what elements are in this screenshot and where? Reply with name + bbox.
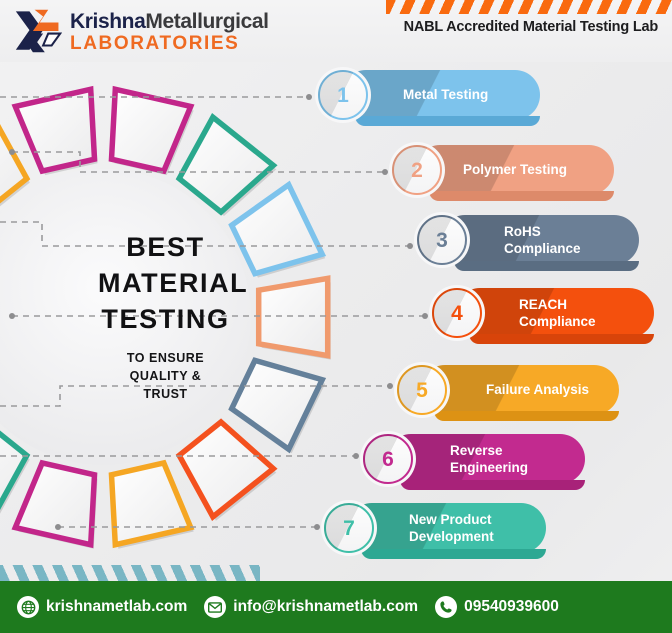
phone-icon	[435, 596, 457, 618]
contact-footer: krishnametlab.cominfo@krishnametlab.com0…	[0, 581, 672, 633]
service-label-line2: Compliance	[504, 240, 581, 257]
logo-name-krishna: Krishna	[70, 10, 145, 33]
service-label-line2: Compliance	[519, 313, 596, 330]
badge-number: 1	[337, 85, 349, 106]
badge-number: 6	[382, 449, 394, 470]
footer-contact-text: info@krishnametlab.com	[233, 598, 418, 616]
badge-number: 2	[411, 160, 423, 181]
service-label-7: New ProductDevelopment	[409, 511, 494, 546]
service-number-badge-4[interactable]: 4	[429, 285, 485, 341]
badge-number: 4	[451, 303, 463, 324]
service-pill-underline	[355, 116, 540, 126]
service-pill-underline	[469, 334, 654, 344]
service-label-3: RoHSCompliance	[504, 223, 581, 258]
service-item-1[interactable]: Metal Testing1	[315, 70, 544, 126]
logo-name-laboratories: LABORATORIES	[70, 34, 269, 53]
header-tagline: NABL Accredited Material Testing Lab	[404, 19, 658, 35]
globe-icon	[17, 596, 39, 618]
service-item-7[interactable]: New ProductDevelopment7	[321, 503, 550, 559]
service-label-2: Polymer Testing	[463, 161, 567, 178]
service-item-6[interactable]: ReverseEngineering6	[360, 434, 589, 490]
service-number-badge-2[interactable]: 2	[389, 142, 445, 198]
service-item-3[interactable]: RoHSCompliance3	[414, 215, 643, 271]
service-label-line1: Reverse	[450, 442, 528, 459]
service-number-badge-1[interactable]: 1	[315, 67, 371, 123]
footer-contact-globe[interactable]: krishnametlab.com	[17, 596, 187, 618]
service-item-4[interactable]: REACHCompliance4	[429, 288, 658, 344]
service-pill-underline	[434, 411, 619, 421]
arrow-chevron-mark-icon	[14, 8, 62, 54]
service-label-1: Metal Testing	[403, 86, 488, 103]
company-logo: KrishnaMetallurgical LABORATORIES	[14, 8, 269, 54]
service-number-badge-6[interactable]: 6	[360, 431, 416, 487]
footer-stripe-decoration	[0, 565, 260, 581]
footer-contact-phone[interactable]: 09540939600	[435, 596, 559, 618]
service-label-6: ReverseEngineering	[450, 442, 528, 477]
service-pill-underline	[454, 261, 639, 271]
service-label-line1: REACH	[519, 296, 596, 313]
service-label-4: REACHCompliance	[519, 296, 596, 331]
service-label-line1: Metal Testing	[403, 86, 488, 103]
header-stripe-decoration	[386, 0, 672, 14]
badge-number: 5	[416, 380, 428, 401]
badge-number: 3	[436, 230, 448, 251]
service-pill-underline	[361, 549, 546, 559]
footer-contact-text: krishnametlab.com	[46, 598, 187, 616]
badge-number: 7	[343, 518, 355, 539]
service-label-line1: Failure Analysis	[486, 381, 589, 398]
service-label-line2: Engineering	[450, 459, 528, 476]
service-item-5[interactable]: Failure Analysis5	[394, 365, 623, 421]
service-label-line1: New Product	[409, 511, 494, 528]
service-number-badge-7[interactable]: 7	[321, 500, 377, 556]
service-label-line1: RoHS	[504, 223, 581, 240]
envelope-icon	[204, 596, 226, 618]
service-label-line2: Development	[409, 528, 494, 545]
footer-contact-envelope[interactable]: info@krishnametlab.com	[204, 596, 418, 618]
service-label-5: Failure Analysis	[486, 381, 589, 398]
service-number-badge-5[interactable]: 5	[394, 362, 450, 418]
service-item-2[interactable]: Polymer Testing2	[389, 145, 618, 201]
logo-name-metallurgical: Metallurgical	[145, 10, 268, 33]
footer-contact-text: 09540939600	[464, 598, 559, 616]
service-label-line1: Polymer Testing	[463, 161, 567, 178]
service-number-badge-3[interactable]: 3	[414, 212, 470, 268]
service-pill-underline	[400, 480, 585, 490]
infographic-poster: BEST MATERIAL TESTING TO ENSURE QUALITY …	[0, 0, 672, 633]
service-pill-underline	[429, 191, 614, 201]
